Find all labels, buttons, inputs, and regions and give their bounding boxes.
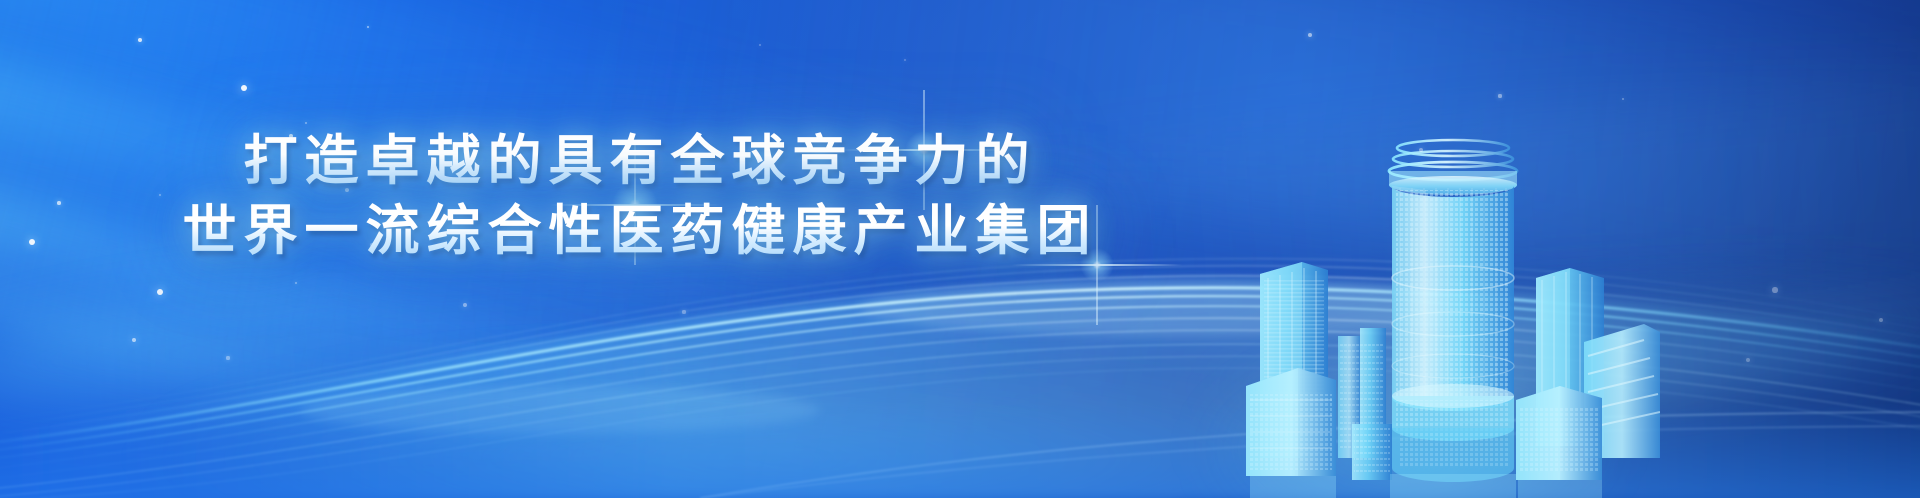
banner-headline: 打造卓越的具有全球竞争力的 世界一流综合性医药健康产业集团 [0, 126, 1280, 266]
particle-dot [132, 338, 137, 343]
mid-haze-glow [0, 218, 1343, 441]
diagonal-band-6 [900, 59, 1920, 339]
light-wave-streaks [0, 198, 1920, 498]
wave-underglow [120, 358, 1420, 498]
building-center-tower [1389, 140, 1517, 482]
skyline-reflection [1250, 474, 1602, 498]
particle-dot [157, 289, 163, 295]
particle-dot [1879, 318, 1884, 323]
particle-dot [295, 282, 297, 284]
diagonal-band-4 [0, 105, 853, 498]
diagonal-band-3 [0, 0, 1019, 498]
particle-dot [1498, 94, 1501, 97]
sparkle-icon-2 [905, 131, 943, 169]
particle-dot [333, 141, 335, 143]
particle-dot [370, 243, 374, 247]
particle-dot [57, 201, 61, 205]
particle-dot [1772, 287, 1777, 292]
bottom-light-sheet [0, 403, 1920, 498]
building-front-left [1246, 368, 1336, 476]
particle-dot [463, 303, 467, 307]
building-left-tall [1260, 262, 1328, 458]
diagonal-band-2 [0, 0, 1195, 416]
particle-dot [1746, 358, 1750, 362]
sparkle-icon-3 [1080, 248, 1114, 282]
particle-dot [759, 44, 762, 47]
particle-dot [159, 194, 161, 196]
particle-dot [241, 85, 247, 91]
particle-dot [345, 188, 349, 192]
building-right-tall [1536, 268, 1604, 446]
particle-dot [226, 356, 229, 359]
diagonal-band-5 [588, 0, 1920, 321]
building-right-stepped [1584, 324, 1660, 458]
particle-dot [904, 59, 906, 61]
diagonal-band-1 [0, 0, 772, 173]
particle-dot [682, 310, 685, 313]
building-front-right [1516, 386, 1602, 480]
sparkle-icon-1 [612, 182, 658, 228]
building-left-thin [1338, 328, 1386, 458]
headline-line-2: 世界一流综合性医药健康产业集团 [0, 196, 1280, 266]
headline-line-1: 打造卓越的具有全球竞争力的 [0, 126, 1280, 196]
particle-dot [138, 38, 142, 42]
building-front-center [1352, 424, 1392, 480]
city-underglow [1200, 358, 1620, 498]
particle-dot [1419, 148, 1423, 152]
particle-dot [1308, 33, 1312, 37]
particle-dot [29, 239, 35, 245]
particle-dot [289, 134, 294, 139]
right-haze-glow [1176, 260, 1920, 451]
particle-dot [1622, 98, 1625, 101]
particle-dot [367, 26, 369, 28]
city-skyline-icon [1240, 128, 1660, 498]
hero-banner: 打造卓越的具有全球竞争力的 世界一流综合性医药健康产业集团 [0, 0, 1920, 498]
particle-dot [305, 122, 308, 125]
